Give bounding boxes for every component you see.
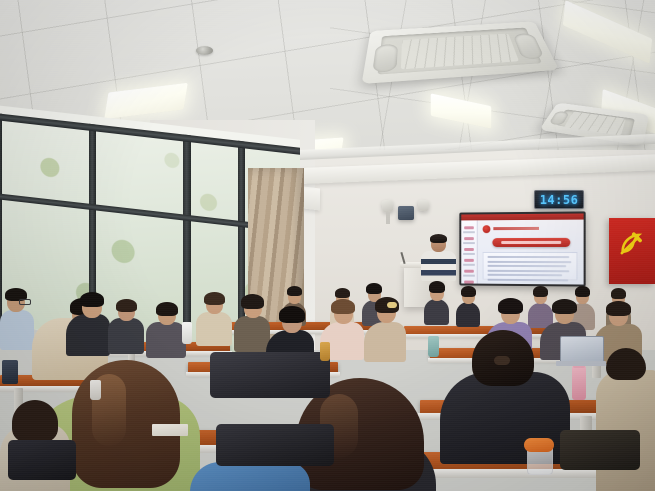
pink-water-bottle[interactable] [572, 366, 586, 400]
projector-mount-bracket [386, 212, 390, 224]
screen-sidebar [461, 220, 477, 283]
screen-site-logo-icon [483, 225, 491, 233]
amber-bottle-center[interactable] [320, 342, 330, 361]
presenter-torso [421, 251, 456, 281]
dark-jacket-right [560, 430, 640, 470]
smoke-detector-2 [196, 46, 213, 55]
digital-wall-clock: 14:56 [534, 190, 584, 209]
student-mid-1 [0, 288, 34, 348]
hair-tie [494, 356, 510, 365]
screen-article-body [483, 252, 578, 280]
student-mid-3 [66, 292, 110, 354]
black-bag-on-desk-2 [216, 424, 334, 466]
student-mid-7 [234, 296, 270, 350]
student-mid-4 [108, 300, 144, 352]
student-mid-5 [146, 302, 186, 356]
presenter [420, 236, 456, 280]
screen-content [461, 213, 583, 284]
presenter-hair [430, 234, 447, 243]
student-mid-6 [196, 292, 232, 344]
screen-highlight-banner [492, 238, 570, 247]
screen-header-bar [461, 213, 583, 220]
screen-site-title [493, 227, 539, 230]
student-glasses-icon [19, 299, 31, 305]
notebook-on-desk [152, 424, 188, 436]
lecture-hall-photo: 14:56 [0, 0, 655, 491]
hair-clip [387, 302, 397, 308]
white-bottle-mid[interactable] [182, 322, 192, 344]
open-laptop[interactable] [560, 336, 604, 364]
hammer-and-sickle-icon [617, 230, 645, 258]
phone-in-hand[interactable] [2, 360, 18, 384]
grey-bottle-left[interactable] [90, 380, 101, 400]
teal-bottle-right[interactable] [428, 336, 439, 357]
wall-control-panel[interactable] [398, 206, 414, 220]
wall-mounted-presentation-screen[interactable] [459, 211, 585, 286]
student-front-blue-shoulder [190, 462, 310, 491]
black-coat-on-desk-1 [210, 352, 330, 398]
wall-speaker-right [417, 199, 429, 211]
communist-party-flag [609, 218, 655, 284]
student-back-5 [456, 286, 480, 326]
wall-speaker-left [381, 199, 394, 212]
clock-time-text: 14:56 [540, 193, 579, 207]
student-mid-10 [364, 298, 406, 358]
student-back-4 [424, 282, 449, 324]
black-bag-left [8, 440, 76, 480]
laptop-base [556, 361, 606, 366]
orange-cup-lid [524, 438, 554, 452]
